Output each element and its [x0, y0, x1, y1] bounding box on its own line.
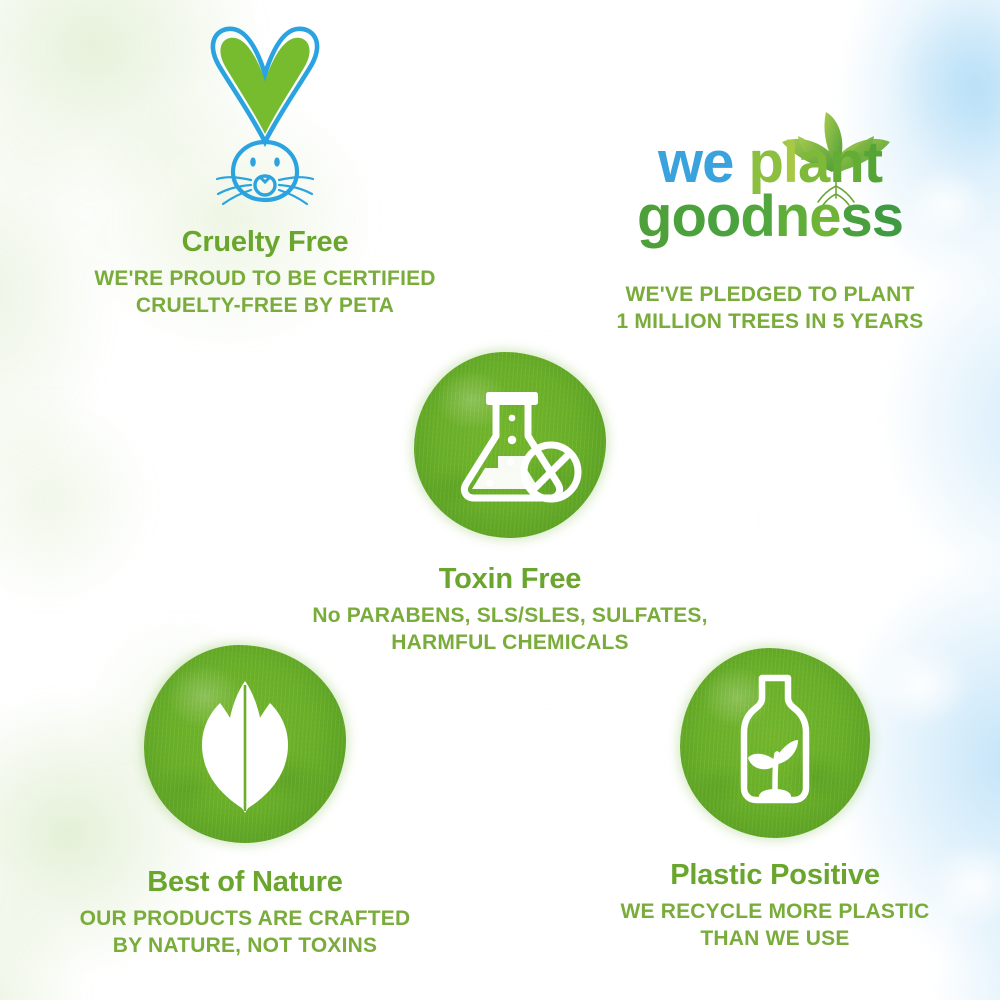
card-title-cruelty-free: Cruelty Free [45, 227, 485, 259]
logo-wordmark-line-2: goodness [550, 190, 990, 244]
logo-wordmark-line-1: we plant [550, 136, 990, 190]
bunny-muzzle [255, 176, 275, 195]
value-card-we-plant-goodness: we plant goodness WE'VE PLEDGED TO PLANT… [550, 100, 990, 336]
flask-bubble-3 [507, 458, 514, 465]
sprout-leaf-left [748, 754, 775, 770]
card-title-plastic-positive: Plastic Positive [555, 860, 995, 892]
bottle-sprout-icon [680, 648, 870, 838]
logo-letter-g: g [637, 184, 671, 249]
flask-no-entry-badge [414, 352, 606, 538]
three-leaves-icon [144, 645, 346, 843]
logo-letter-e: e [809, 184, 840, 249]
bunny-nose [261, 178, 269, 182]
flask-bubble-4 [486, 479, 493, 486]
logo-letter-n2: n [775, 184, 809, 249]
logo-letter-o1: o [671, 184, 705, 249]
card-title-toxin-free: Toxin Free [290, 564, 730, 596]
logo-letter-s1: s [840, 184, 871, 249]
value-card-cruelty-free: Cruelty Free WE'RE PROUD TO BE CERTIFIED… [45, 22, 485, 320]
peta-bunny-heart-icon [185, 22, 345, 207]
card-subtitle-cruelty-free: WE'RE PROUD TO BE CERTIFIED CRUELTY-FREE… [45, 266, 485, 320]
infographic-canvas: Cruelty Free WE'RE PROUD TO BE CERTIFIED… [0, 0, 1000, 1000]
logo-letter-d: d [740, 184, 774, 249]
bunny-head-outline [233, 142, 297, 200]
bunny-eye-right [274, 157, 280, 166]
three-leaves-badge [144, 645, 346, 843]
logo-letter-s2: s [872, 184, 903, 249]
bottle-sprout-badge [680, 648, 870, 838]
watercolor-wash-green-mid-left [0, 330, 240, 670]
sprout-logo-icon: we plant goodness [550, 100, 990, 240]
bunny-eye-left [250, 157, 256, 166]
card-subtitle-we-plant-goodness: WE'VE PLEDGED TO PLANT 1 MILLION TREES I… [550, 282, 990, 336]
value-card-toxin-free: Toxin Free No PARABENS, SLS/SLES, SULFAT… [290, 352, 730, 657]
card-subtitle-best-of-nature: OUR PRODUCTS ARE CRAFTED BY NATURE, NOT … [25, 906, 465, 960]
sprout-soil-mound [759, 789, 791, 803]
flask-bubble-2 [508, 436, 516, 444]
card-subtitle-plastic-positive: WE RECYCLE MORE PLASTIC THAN WE USE [555, 899, 995, 953]
card-title-best-of-nature: Best of Nature [25, 867, 465, 899]
flask-bubble-1 [509, 415, 516, 422]
flask-no-entry-icon [414, 352, 606, 538]
value-card-plastic-positive: Plastic Positive WE RECYCLE MORE PLASTIC… [555, 648, 995, 953]
logo-letter-o2: o [706, 184, 740, 249]
value-card-best-of-nature: Best of Nature OUR PRODUCTS ARE CRAFTED … [25, 645, 465, 960]
sprout-leaf-right [777, 740, 798, 764]
